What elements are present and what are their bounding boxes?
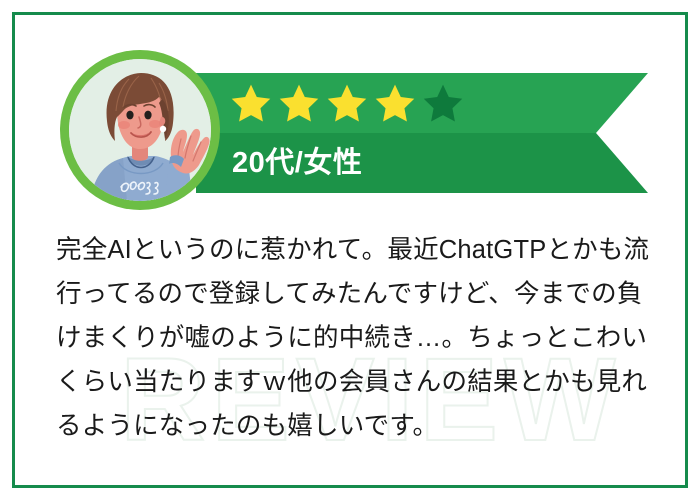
reviewer-demographic-label: 20代/女性 <box>232 139 362 187</box>
avatar-image-wrapper <box>69 59 211 201</box>
star-2-icon <box>278 82 320 124</box>
review-body-text: 完全AIというのに惹かれて。最近ChatGTPとかも流行ってるので登録してみたん… <box>56 228 656 448</box>
star-5-icon <box>422 82 464 124</box>
star-3-icon <box>326 82 368 124</box>
star-1-icon <box>230 82 272 124</box>
star-4-icon <box>374 82 416 124</box>
woman-waving-avatar-icon <box>69 59 211 201</box>
review-card: REVIEW 20代/女性 <box>0 0 700 500</box>
rating-ribbon: 20代/女性 <box>196 73 648 193</box>
star-rating <box>230 82 464 124</box>
avatar <box>60 50 220 210</box>
